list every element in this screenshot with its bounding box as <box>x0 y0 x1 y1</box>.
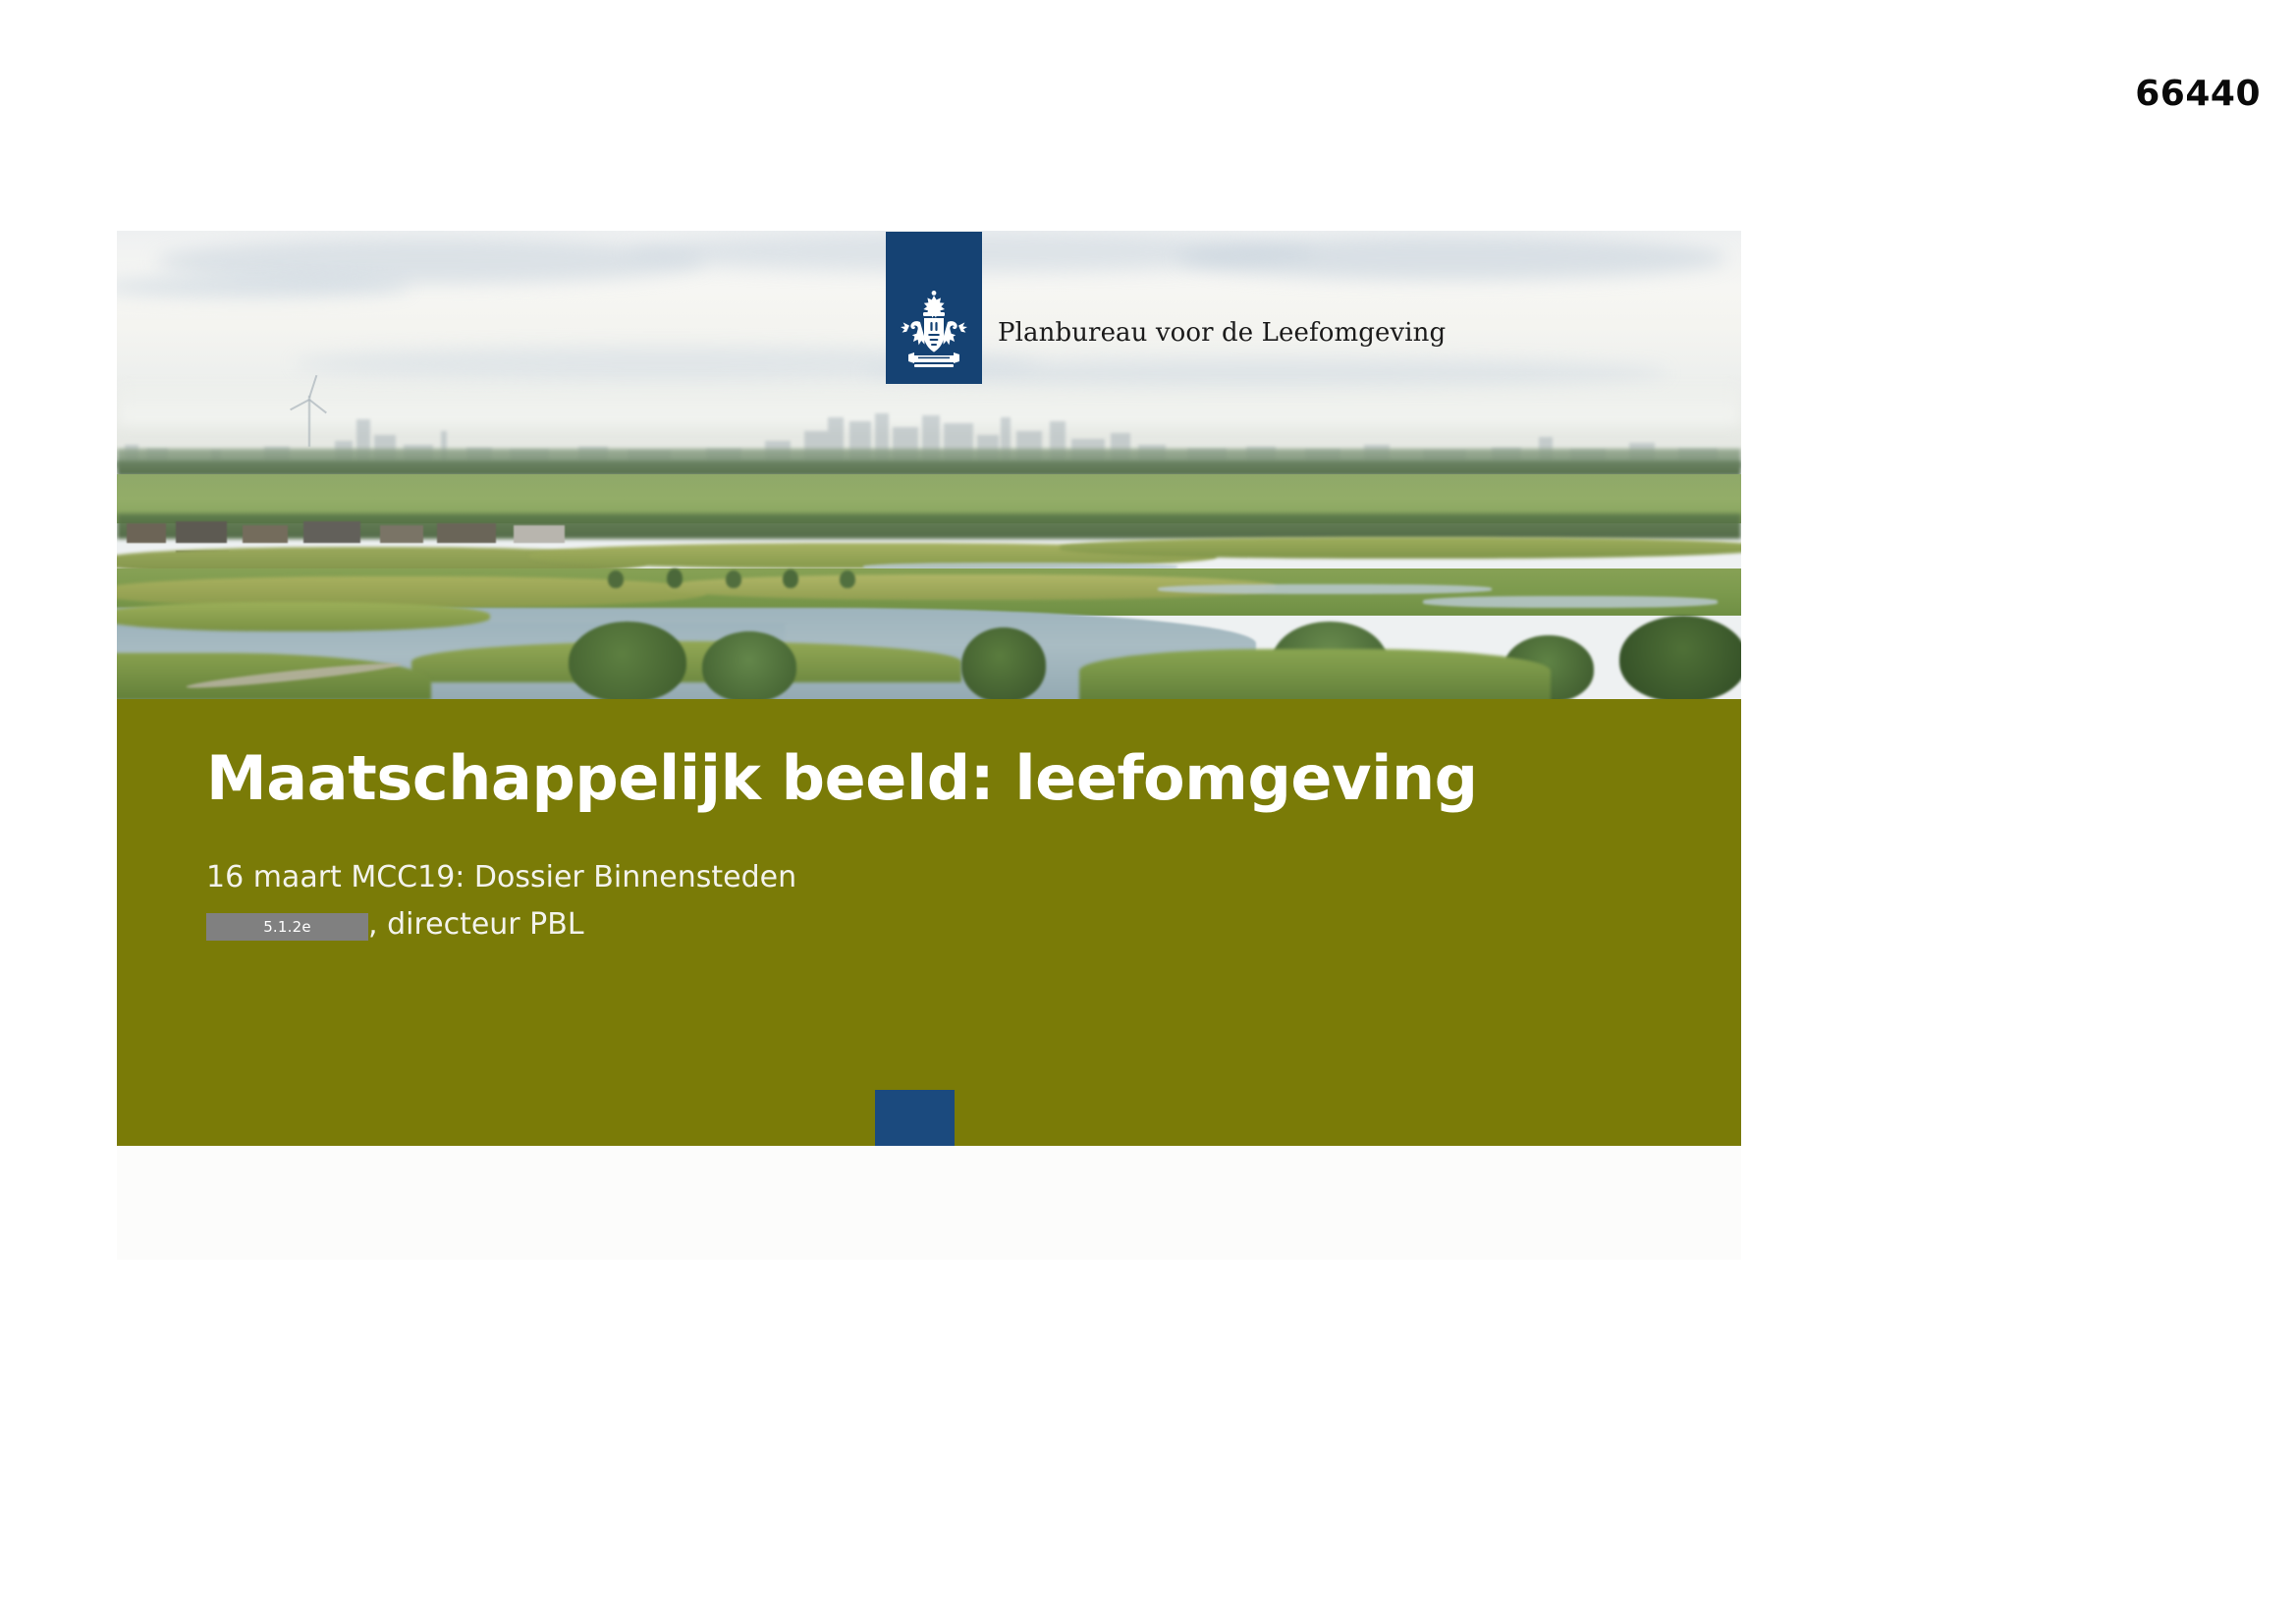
page-number: 66440 <box>2135 77 2261 112</box>
tree <box>961 627 1046 699</box>
tree <box>667 568 683 588</box>
tree <box>702 631 796 699</box>
redaction-marker: 5.1.2e <box>206 913 368 941</box>
pbl-logo: Planbureau voor de Leefomgeving <box>886 232 1446 384</box>
village-building <box>127 523 166 543</box>
logo-blue-bar <box>886 232 982 384</box>
presentation-slide: Planbureau voor de Leefomgeving Maatscha… <box>117 231 1741 1260</box>
village-building <box>176 521 227 543</box>
tree <box>569 622 686 699</box>
reed-strip <box>411 641 961 682</box>
ditch <box>1158 584 1492 594</box>
document-page: 66440 <box>0 0 2296 1624</box>
ditch <box>1423 596 1718 608</box>
tree <box>840 570 855 588</box>
title-band: Maatschappelijk beeld: leefomgeving 16 m… <box>117 699 1741 1146</box>
reed-strip <box>117 602 490 631</box>
slide-subtitle-event: 16 maart MCC19: Dossier Binnensteden <box>206 860 796 895</box>
village-building <box>514 525 565 543</box>
tree <box>783 569 798 588</box>
village-building <box>380 525 423 543</box>
slide-subtitle-author: 5.1.2e , directeur PBL <box>206 907 584 943</box>
logo-wordmark: Planbureau voor de Leefomgeving <box>998 318 1446 348</box>
accent-block <box>875 1090 955 1146</box>
author-role-label: , directeur PBL <box>368 907 584 943</box>
dutch-coat-of-arms-icon <box>899 290 969 374</box>
village-building <box>437 523 496 543</box>
cover-photo: Planbureau voor de Leefomgeving <box>117 231 1741 699</box>
slide-title: Maatschappelijk beeld: leefomgeving <box>206 748 1478 809</box>
reed-strip <box>1060 537 1741 559</box>
mid-treeline <box>117 514 1741 539</box>
village-building <box>243 525 288 543</box>
reed-strip <box>1079 649 1551 699</box>
village-building <box>303 521 360 543</box>
tree <box>1619 616 1741 699</box>
wind-turbine-icon <box>308 396 310 447</box>
tree <box>726 570 741 588</box>
tree <box>608 570 624 588</box>
